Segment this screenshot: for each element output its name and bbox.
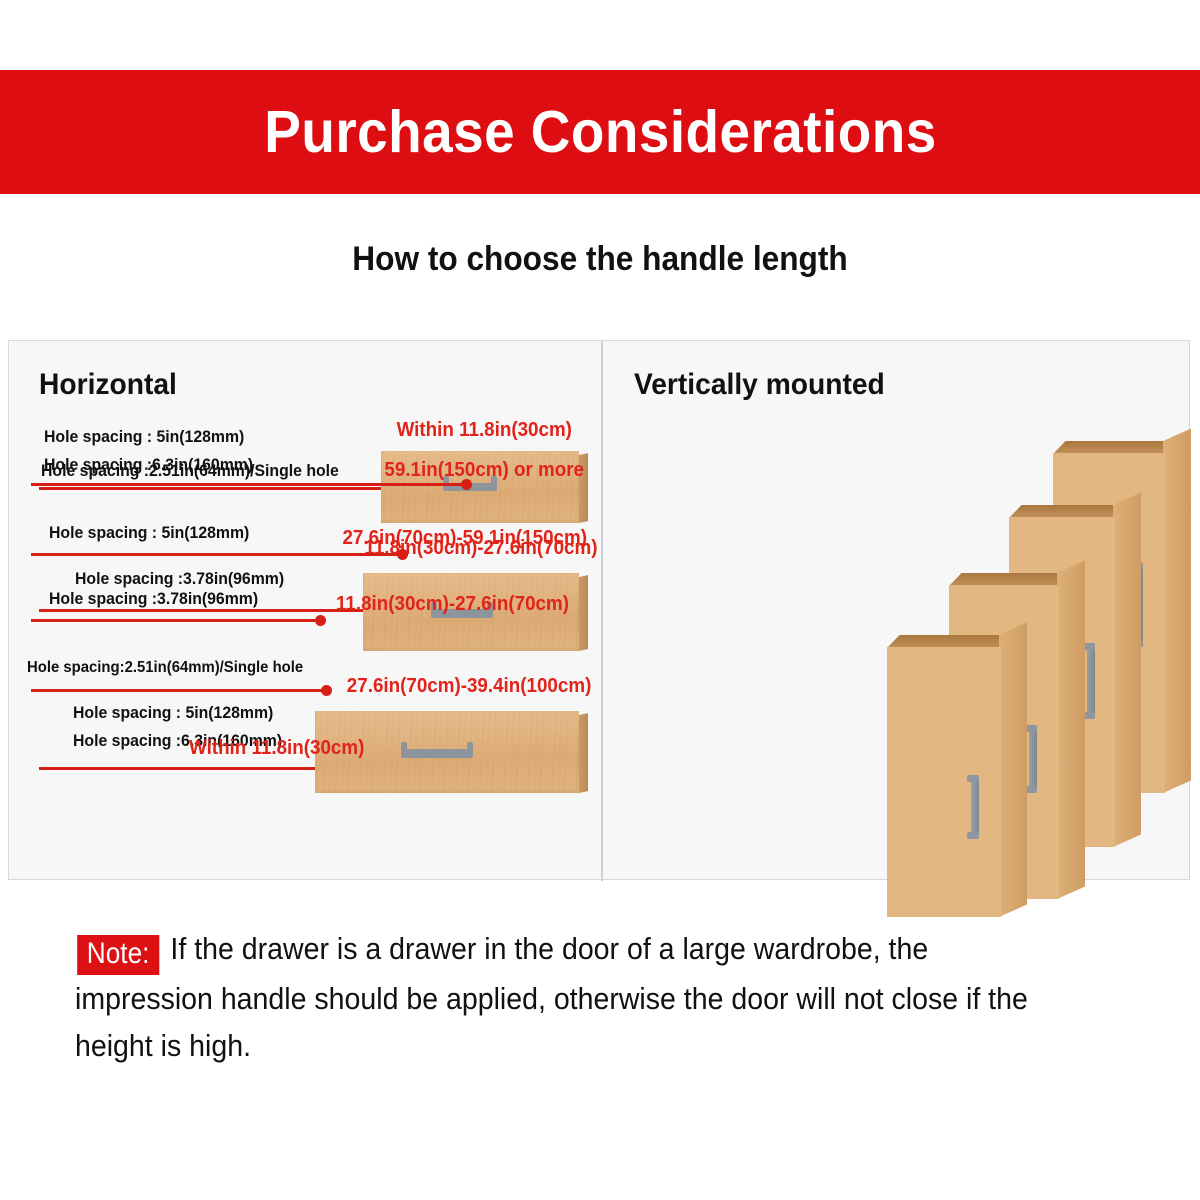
diagram-container: Horizontal Within 11.8in(30cm) Hole spac… [8, 340, 1190, 880]
header-banner: Purchase Considerations [0, 70, 1200, 194]
page-title: Purchase Considerations [264, 98, 936, 166]
right-row-2-leader-dot [397, 549, 408, 560]
door-pull-handle [1029, 725, 1037, 793]
door-short [887, 647, 1001, 917]
right-row-3-length-label: 11.8in(30cm)-27.6in(70cm) [336, 593, 569, 616]
left-row-2-hole-spacing: Hole spacing :3.78in(96mm) [75, 569, 284, 589]
note-badge: Note: [77, 935, 159, 975]
right-row-1-hole-spacing-2: Hole spacing :6.3in(160mm) [44, 455, 253, 475]
left-row-2-leader-line [39, 609, 381, 612]
left-row-1-length-label: Within 11.8in(30cm) [397, 419, 572, 442]
door-pull-handle [1087, 643, 1095, 719]
right-row-4-hole-spacing: Hole spacing:2.51in(64mm)/Single hole [27, 659, 303, 677]
left-panel-title: Horizontal [39, 368, 177, 402]
left-row-3-length-label: 27.6in(70cm)-39.4in(100cm) [347, 675, 592, 698]
door-side-edge [1057, 561, 1085, 899]
drawer-pull-handle [401, 749, 473, 758]
right-row-2-length-label: 27.6in(70cm)-59.1in(150cm) [342, 527, 587, 550]
right-row-2-leader-line [31, 553, 403, 556]
right-row-3-leader-dot [315, 615, 326, 626]
right-row-4-leader-dot [321, 685, 332, 696]
left-row-1-leader-line [39, 487, 399, 490]
right-row-3-leader-line [31, 619, 321, 622]
section-subtitle: How to choose the handle length [42, 240, 1158, 279]
note-section: Note:If the drawer is a drawer in the do… [75, 925, 1135, 1069]
right-row-3-hole-spacing: Hole spacing :3.78in(96mm) [49, 589, 258, 609]
drawer-side-edge [579, 575, 588, 651]
panel-divider [601, 341, 603, 881]
left-row-3-hole-spacing-1: Hole spacing : 5in(128mm) [73, 703, 273, 723]
left-row-3-leader-line [39, 767, 333, 770]
right-row-4-length-label: Within 11.8in(30cm) [189, 737, 364, 760]
right-row-1-leader-line [31, 483, 467, 486]
right-row-2-hole-spacing: Hole spacing : 5in(128mm) [49, 523, 249, 543]
right-row-4-leader-line [31, 689, 327, 692]
door-face [887, 647, 1001, 917]
note-paragraph: Note:If the drawer is a drawer in the do… [75, 925, 1050, 1069]
right-panel-title: Vertically mounted [634, 368, 885, 402]
drawer-side-edge [579, 713, 588, 793]
right-row-1-length-label: 59.1in(150cm) or more [384, 459, 584, 482]
door-side-edge [1113, 493, 1141, 847]
note-body-text: If the drawer is a drawer in the door of… [75, 931, 1028, 1063]
door-pull-handle [971, 775, 979, 839]
right-row-1-hole-spacing-1: Hole spacing : 5in(128mm) [44, 427, 244, 447]
door-side-edge [1163, 429, 1191, 793]
door-side-edge [999, 623, 1027, 917]
